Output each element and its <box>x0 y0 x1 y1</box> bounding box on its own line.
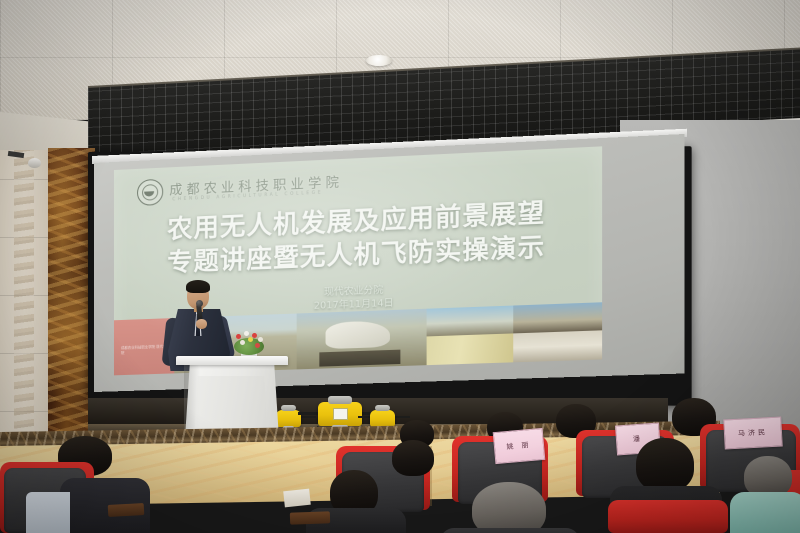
slide-photo-corn <box>427 333 514 365</box>
audience-head <box>472 482 546 533</box>
flower-bloom <box>240 340 245 345</box>
notebook[interactable] <box>283 489 311 508</box>
auditorium-photo: 成都农业科技职业学院 CHENGDU AGRICULTURAL COLLEGE … <box>0 0 800 533</box>
speaker-hair <box>186 280 210 293</box>
slide-photo-grid-right <box>427 302 603 365</box>
speaker-hand <box>196 319 207 329</box>
folding-desk[interactable] <box>108 503 145 517</box>
ceiling-light-icon <box>366 55 392 66</box>
namecard-yao-li: 姚 丽 <box>493 428 546 464</box>
flower-bloom <box>252 333 257 338</box>
audience-head <box>392 440 434 476</box>
slide-photo-harvest <box>513 302 602 333</box>
flower-bloom <box>258 337 263 342</box>
slide-photo-poultry <box>513 330 602 362</box>
audience-head <box>636 438 694 492</box>
marble-wall-vein <box>14 150 34 470</box>
slide-photo-ox-sculpture <box>297 309 427 370</box>
namecard-ma-ji-min: 马济民 <box>723 417 782 450</box>
audience-shoulders <box>730 492 800 533</box>
flower-bloom <box>244 331 249 336</box>
podium-top <box>176 356 288 365</box>
audience-shoulders <box>440 528 580 533</box>
college-emblem-icon <box>137 179 163 206</box>
folding-desk[interactable] <box>290 511 330 524</box>
flower-bloom <box>236 334 241 339</box>
security-camera-icon <box>28 158 41 168</box>
audience-clothing <box>26 492 70 533</box>
seat-back-rim[interactable] <box>608 500 728 533</box>
flower-bloom <box>255 343 260 348</box>
slide-photo-greenhouse <box>427 306 514 337</box>
flower-bloom <box>248 337 253 342</box>
microphone-capsule <box>196 300 203 307</box>
